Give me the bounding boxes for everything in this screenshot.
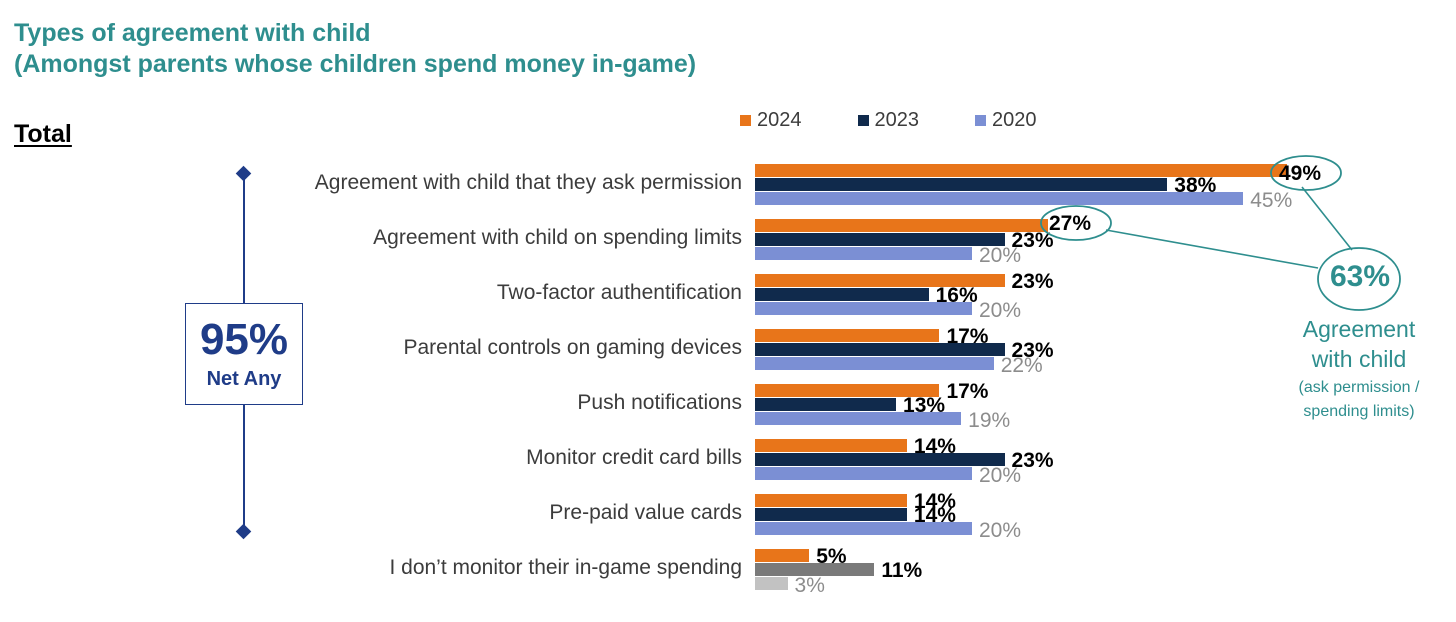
bar-2023[interactable]: [755, 178, 1167, 191]
chart-row: Agreement with child on spending limits2…: [0, 217, 1456, 264]
legend-item-2020[interactable]: 2020: [975, 109, 1037, 132]
category-label: Parental controls on gaming devices: [0, 336, 742, 360]
bar-2024[interactable]: [755, 219, 1048, 232]
chart-row: Monitor credit card bills14%23%20%: [0, 437, 1456, 484]
category-label: Two-factor authentification: [0, 281, 742, 305]
highlighted-value-label: 49%: [1279, 162, 1321, 186]
legend-label-2023: 2023: [875, 109, 920, 132]
category-label: Push notifications: [0, 391, 742, 415]
callout-title-line-1: Agreement: [1263, 314, 1455, 344]
bar-2023[interactable]: [755, 453, 1005, 466]
bar-2023[interactable]: [755, 508, 907, 521]
category-label: Agreement with child that they ask permi…: [0, 171, 742, 195]
bar-2020[interactable]: [755, 247, 972, 260]
bar-2024[interactable]: [755, 329, 939, 342]
legend-label-2024: 2024: [757, 109, 802, 132]
bar-2024[interactable]: [755, 439, 907, 452]
callout-subtitle-line-2: spending limits): [1263, 402, 1455, 423]
value-label-2020: 19%: [968, 410, 1010, 431]
value-label-2024: 17%: [946, 381, 988, 402]
bar-2023[interactable]: [755, 398, 896, 411]
total-label: Total: [14, 120, 72, 149]
value-label-2020: 20%: [979, 520, 1021, 541]
chart-row: Push notifications17%13%19%: [0, 382, 1456, 429]
bar-2020[interactable]: [755, 412, 961, 425]
chart-row: Pre-paid value cards14%14%20%: [0, 492, 1456, 539]
legend-swatch-2020: [975, 115, 986, 126]
title-line-1: Types of agreement with child: [14, 18, 696, 49]
callout-title-line-2: with child: [1263, 344, 1455, 374]
value-label-2020: 20%: [979, 245, 1021, 266]
value-label-2020: 22%: [1001, 355, 1043, 376]
category-label: I don’t monitor their in-game spending: [0, 556, 742, 580]
title-line-2: (Amongst parents whose children spend mo…: [14, 49, 696, 80]
chart-row: Parental controls on gaming devices17%23…: [0, 327, 1456, 374]
value-label-2020: 20%: [979, 465, 1021, 486]
bar-2020[interactable]: [755, 522, 972, 535]
bar-2020[interactable]: [755, 577, 788, 590]
chart-row: Agreement with child that they ask permi…: [0, 162, 1456, 209]
bar-2023[interactable]: [755, 233, 1005, 246]
bar-2023[interactable]: [755, 288, 929, 301]
bar-2020[interactable]: [755, 357, 994, 370]
callout-subtitle-line-1: (ask permission /: [1263, 378, 1455, 399]
legend-item-2023[interactable]: 2023: [858, 109, 920, 132]
chart-legend: 2024 2023 2020: [740, 109, 1037, 132]
value-label-2020: 3%: [795, 575, 825, 596]
bar-chart: Agreement with child that they ask permi…: [0, 160, 1456, 612]
highlighted-value-label: 27%: [1049, 212, 1091, 236]
category-label: Pre-paid value cards: [0, 501, 742, 525]
chart-row: Two-factor authentification23%16%20%: [0, 272, 1456, 319]
legend-label-2020: 2020: [992, 109, 1037, 132]
category-label: Agreement with child on spending limits: [0, 226, 742, 250]
value-label-2020: 20%: [979, 300, 1021, 321]
bar-2024[interactable]: [755, 494, 907, 507]
page-title: Types of agreement with child (Amongst p…: [14, 18, 696, 79]
value-label-2020: 45%: [1250, 190, 1292, 211]
value-label-2024: 23%: [1012, 271, 1054, 292]
chart-row: I don’t monitor their in-game spending5%…: [0, 547, 1456, 594]
bar-2020[interactable]: [755, 467, 972, 480]
bar-2024[interactable]: [755, 549, 809, 562]
legend-swatch-2024: [740, 115, 751, 126]
bar-2023[interactable]: [755, 343, 1005, 356]
bar-2020[interactable]: [755, 302, 972, 315]
legend-item-2024[interactable]: 2024: [740, 109, 802, 132]
bar-2020[interactable]: [755, 192, 1243, 205]
value-label-2023: 11%: [881, 560, 922, 581]
category-label: Monitor credit card bills: [0, 446, 742, 470]
legend-swatch-2023: [858, 115, 869, 126]
callout-value: 63%: [1271, 260, 1449, 294]
callout-description: Agreement with child (ask permission / s…: [1263, 314, 1455, 422]
